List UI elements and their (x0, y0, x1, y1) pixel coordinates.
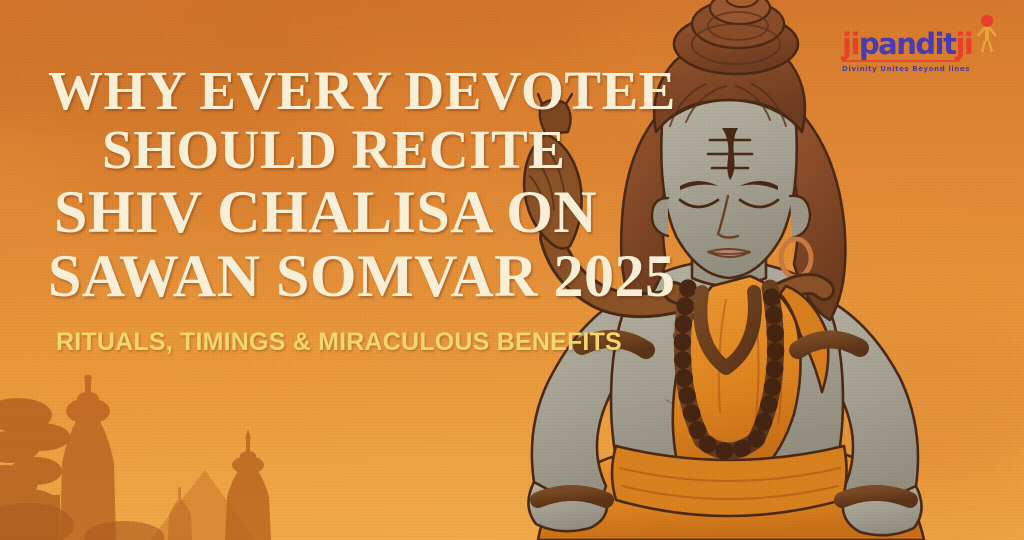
temple-skyline-silhouette (0, 375, 420, 540)
pandit-mascot-icon (974, 14, 1000, 54)
hair-topknot (674, 0, 798, 74)
headline-block: WHY EVERY DEVOTEE SHOULD RECITE SHIV CHA… (48, 62, 668, 357)
headline-line-3: SHIV CHALISA ON (48, 180, 668, 244)
logo-tagline: Divinity Unites Beyond lines (842, 65, 1008, 73)
armlet-right (798, 339, 860, 350)
headline-line-1: WHY EVERY DEVOTEE (48, 62, 668, 121)
brand-logo[interactable]: jipanditji Divinity Unites Beyond lines (842, 14, 1008, 72)
logo-text-pandit: pandit (859, 30, 956, 59)
temple-small (225, 429, 271, 540)
logo-text-ji-left: ji (842, 30, 859, 59)
headline-line-4: SAWAN SOMVAR 2025 (48, 244, 668, 308)
page-title: WHY EVERY DEVOTEE SHOULD RECITE SHIV CHA… (48, 62, 668, 308)
subtitle: RITUALS, TIMINGS & MIRACULOUS BENEFITS (56, 328, 668, 357)
wrist-beads-left (538, 493, 606, 500)
logo-wordmark: jipanditji (842, 14, 1008, 59)
logo-text-ji-right: ji (955, 30, 972, 59)
headline-line-2: SHOULD RECITE (48, 121, 668, 180)
shiv-chalisa-banner: WHY EVERY DEVOTEE SHOULD RECITE SHIV CHA… (0, 0, 1024, 540)
logo-underline (842, 60, 960, 62)
wrist-beads-right (842, 493, 910, 500)
